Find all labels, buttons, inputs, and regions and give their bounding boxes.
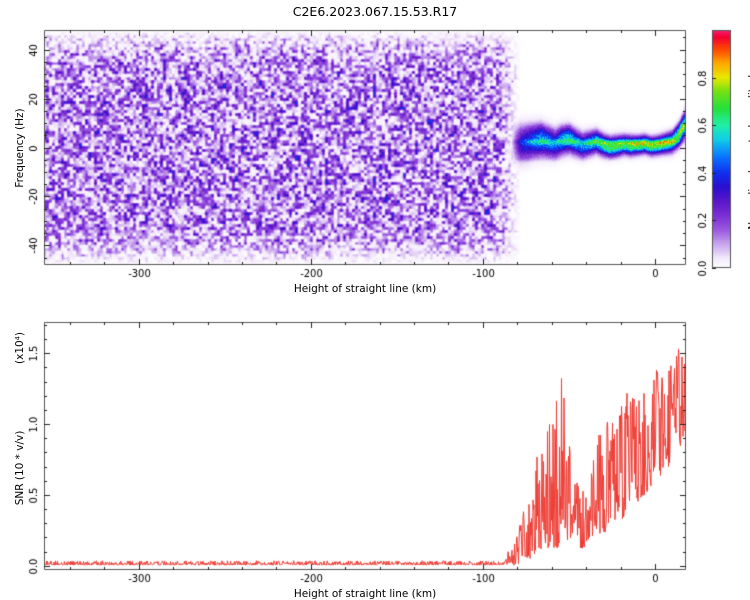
figure-root: C2E6.2023.067.15.53.R17 Height of straig… [0,0,750,600]
plot-canvas [0,0,750,600]
